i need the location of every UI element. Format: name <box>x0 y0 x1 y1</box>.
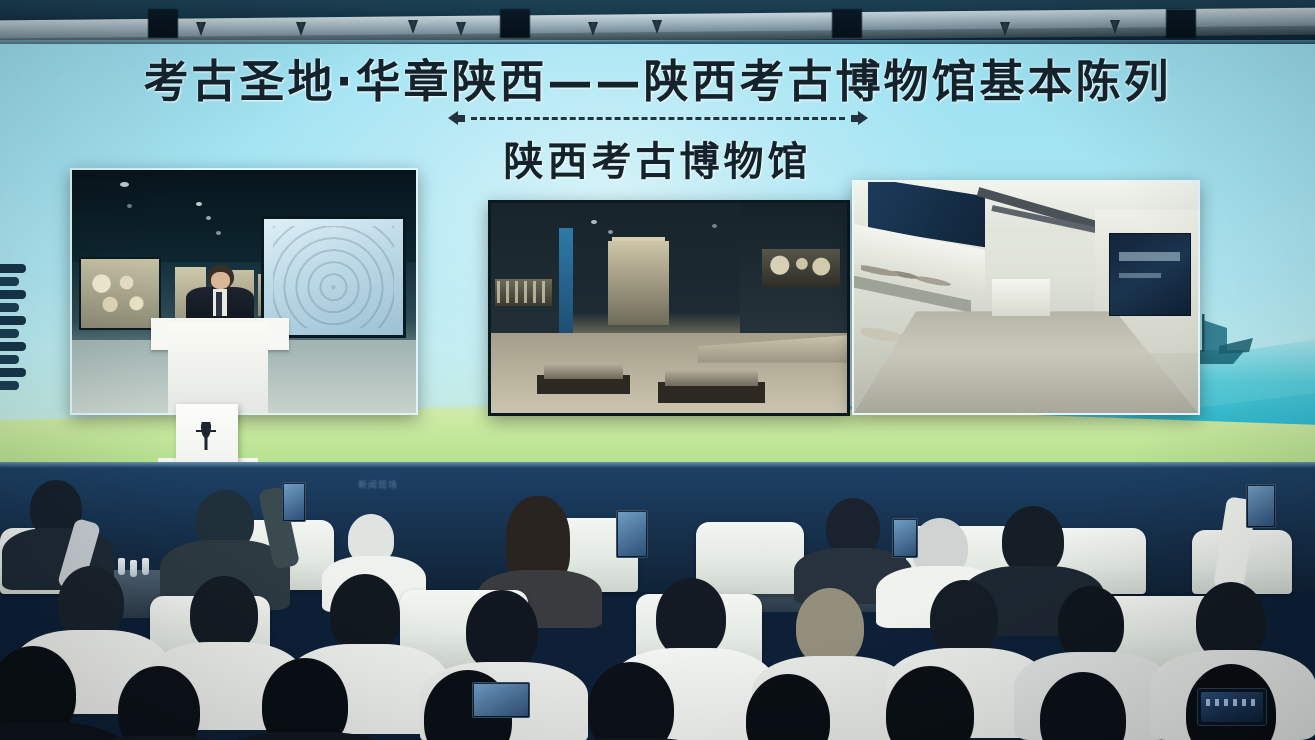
photo-center <box>488 200 850 416</box>
smartphone[interactable] <box>472 682 530 718</box>
backdrop-title-block: 考古圣地·华章陕西——陕西考古博物馆基本陈列 陕西考古博物馆 <box>0 58 1315 187</box>
smartphone[interactable] <box>892 518 918 558</box>
audience-area <box>0 470 1315 740</box>
divider-arrow-right-icon <box>858 111 868 125</box>
water-bottle <box>142 558 149 575</box>
smartphone-foreground[interactable] <box>1197 688 1267 726</box>
photo-right <box>852 180 1200 415</box>
video-frame: 考古圣地·华章陕西——陕西考古博物馆基本陈列 陕西考古博物馆 新闻现场 <box>0 0 1315 740</box>
water-bottle <box>118 558 125 575</box>
audience-chair <box>696 522 804 594</box>
divider-arrow-left-icon <box>448 111 458 125</box>
divider-square-right-icon <box>851 115 858 122</box>
truss-block <box>500 9 530 38</box>
title-divider <box>448 109 868 127</box>
crenellated-motif <box>0 264 30 394</box>
smartphone[interactable] <box>616 510 648 558</box>
truss-block <box>148 9 178 38</box>
smartphone[interactable] <box>282 482 306 522</box>
photo-left <box>70 168 418 415</box>
truss-block <box>1166 9 1196 38</box>
water-bottle <box>130 560 137 577</box>
stage-front-edge <box>0 462 1315 468</box>
exhibition-title: 考古圣地·华章陕西——陕西考古博物馆基本陈列 <box>0 58 1315 105</box>
smartphone-screen <box>1201 692 1263 722</box>
podium-emblem-icon <box>196 422 216 450</box>
divider-square-left-icon <box>458 115 465 122</box>
divider-dashed-line <box>471 117 845 120</box>
smartphone[interactable] <box>1246 484 1276 528</box>
truss-block <box>832 9 862 38</box>
museum-name: 陕西考古博物馆 <box>0 129 1315 187</box>
